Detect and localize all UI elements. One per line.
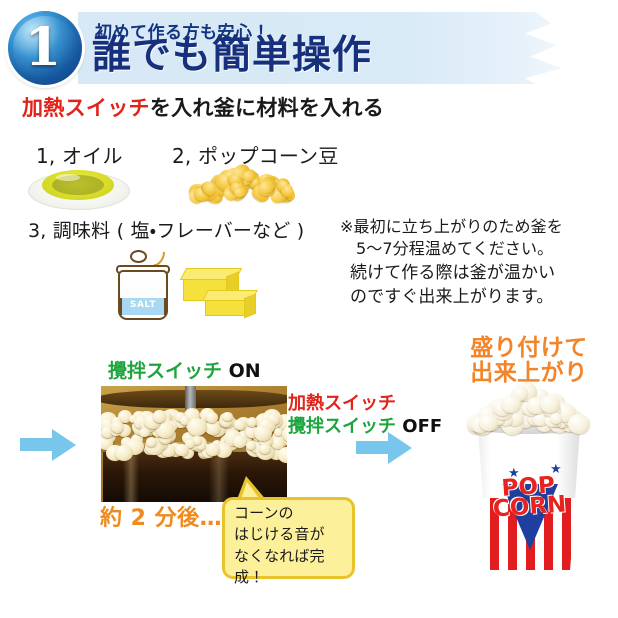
header-title: 誰でも簡単操作 [92,36,372,75]
finish-line-1: 盛り付けて [448,336,610,361]
heat-switch-name: 加熱スイッチ [288,393,396,414]
note-line-3: 続けて作る際は釜が温かい [340,262,608,285]
bubble-line-2: はじける音が [234,524,354,545]
note-line-2: 5〜7分程温めてください。 [340,238,608,260]
infographic-canvas: 1 初めて作る方も安心！ 誰でも簡単操作 加熱スイッチを入れ釜に材料を入れる 1… [0,0,618,618]
step-number-text: 1 [8,11,82,85]
butter-blocks-icon [183,262,259,318]
lead-rest: を入れ釜に材料を入れる [150,96,384,120]
bubble-line-3: なくなれば完成！ [234,546,354,589]
stir-switch-on-label: 攪拌スイッチ ON [108,356,261,383]
ingredient-label-seasoning: 3, 調味料 ( 塩・フレーバーなど ) [28,216,304,243]
timing-label: 約 2 分後… [100,500,222,532]
bubble-line-1: コーンの [234,503,354,524]
popcorn-bucket-image: ★ ★ POP CORN [454,378,604,576]
note-line-1: ※最初に立ち上がりのため釜を [340,216,608,238]
step-number-badge: 1 [8,11,82,85]
speech-bubble-text: コーンの はじける音が なくなれば完成！ [234,503,354,588]
note-line-4: のですぐ出来上がります。 [340,286,608,309]
lead-highlight: 加熱スイッチ [22,96,150,120]
arrow-right-icon-to-bucket [356,432,414,464]
corn-kernels-icon [186,162,304,214]
salt-jar-label: SALT [120,300,166,310]
salt-jar-icon: SALT [112,248,178,324]
lead-instruction: 加熱スイッチを入れ釜に材料を入れる [22,92,384,122]
stir-switch-name: 攪拌スイッチ [108,360,222,382]
preheat-note: ※最初に立ち上がりのため釜を 5〜7分程温めてください。 続けて作る際は釜が温か… [340,216,608,309]
bucket-word-bottom: CORN [480,494,579,521]
ingredient-label-oil: 1, オイル [36,140,123,169]
stir-switch-state: ON [229,360,261,382]
oil-plate-icon [28,166,128,210]
arrow-right-icon-to-machine [20,429,78,461]
bucket-wordmark: POP CORN [479,475,580,521]
